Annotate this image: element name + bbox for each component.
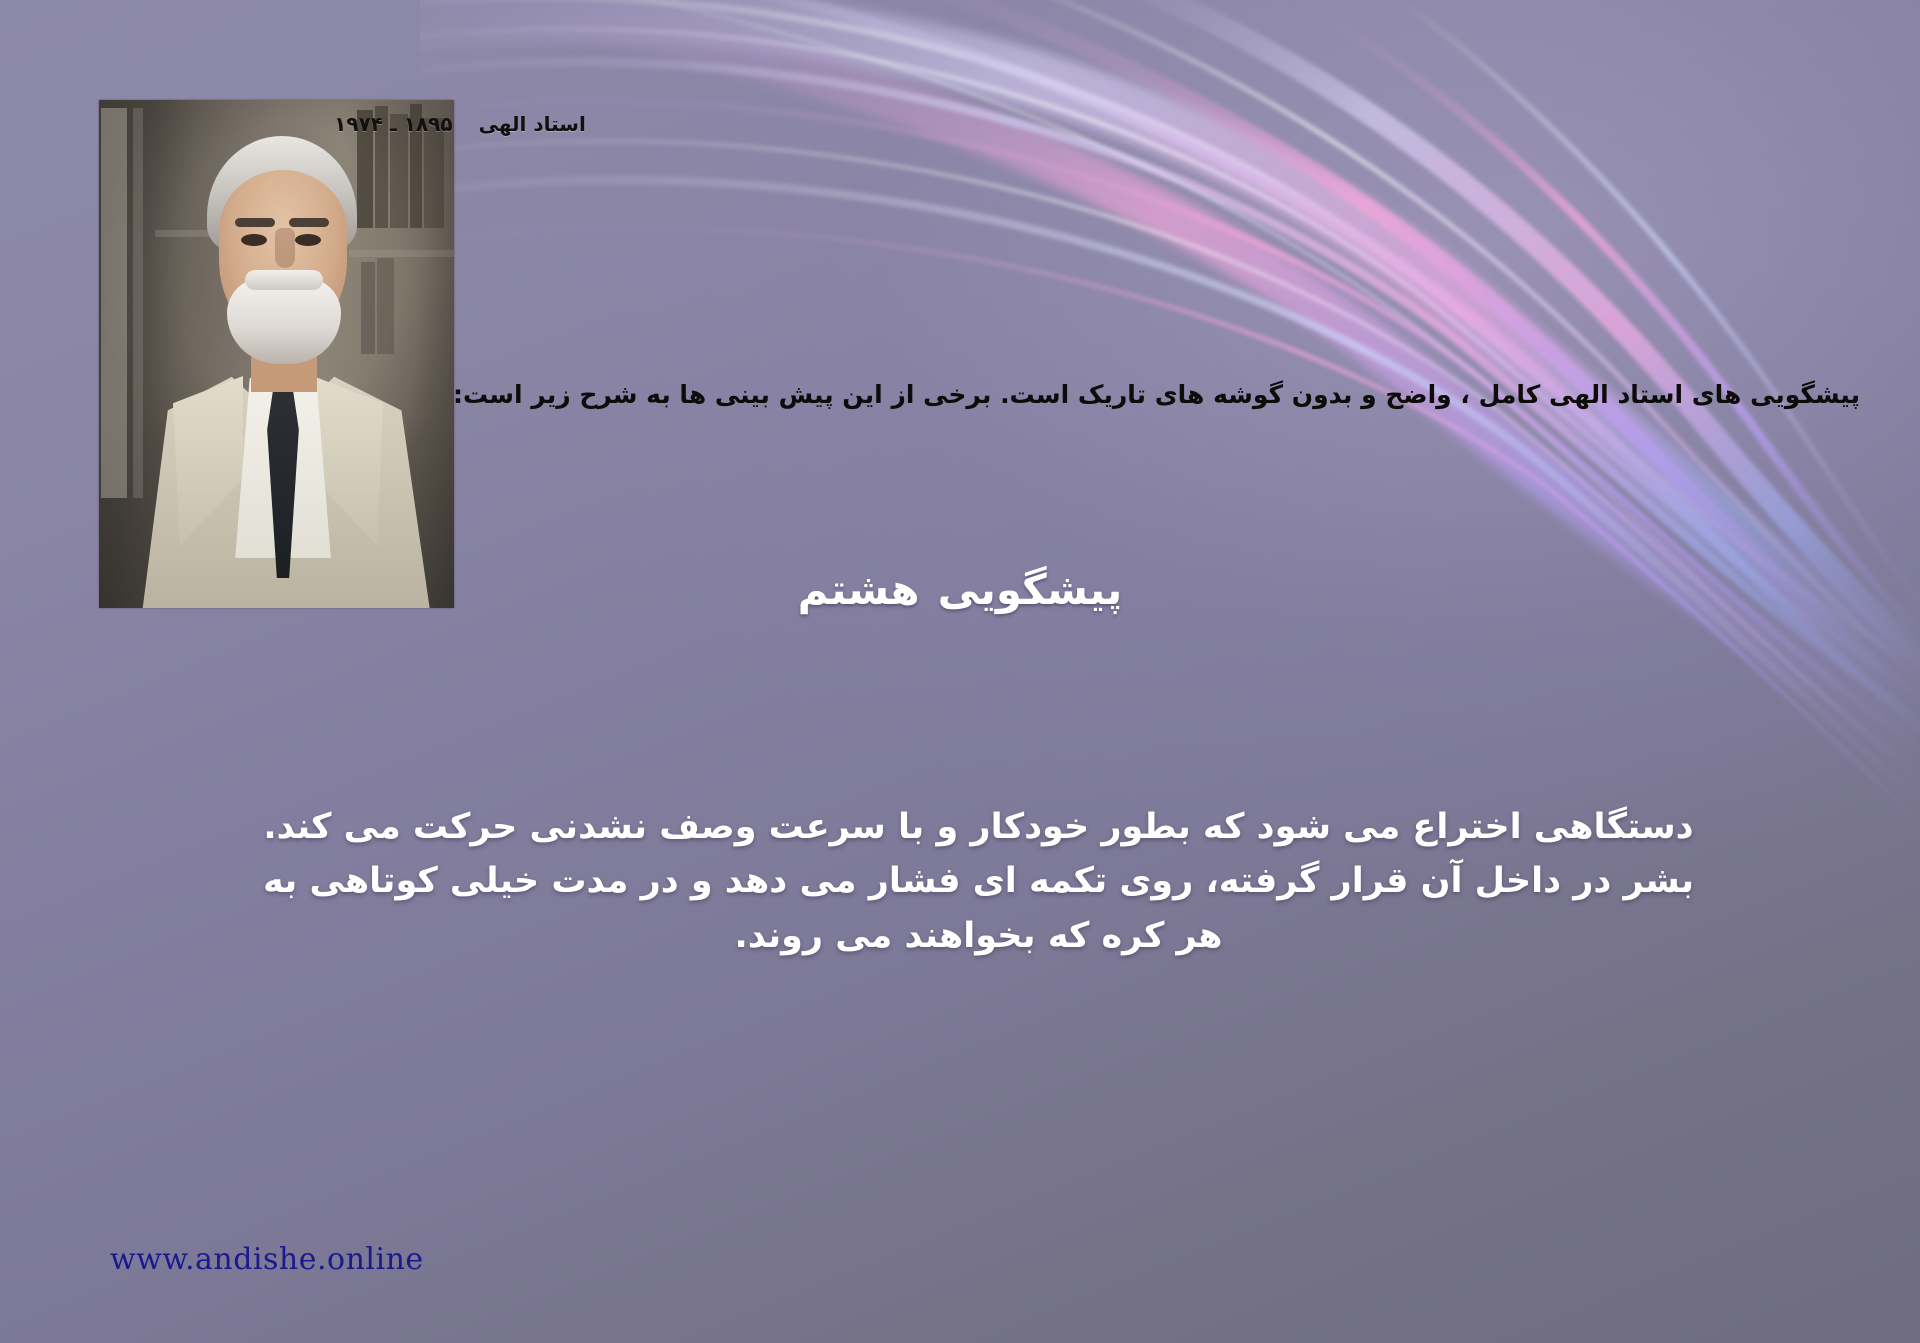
portrait-moustache [245, 270, 323, 290]
prophecy-line-1: دستگاهی اختراع می شود که بطور خودکار و ب… [155, 800, 1802, 854]
slide-root: استاد الهی۱۸۹۵ ـ ۱۹۷۴ پیشگویی های استاد … [0, 0, 1920, 1343]
section-title: پیشگوییهشتم [0, 565, 1920, 614]
section-title-word-2: هشتم [798, 565, 920, 614]
section-title-word-1: پیشگویی [938, 565, 1123, 614]
prophecy-line-3: هر کره که بخواهند می روند. [155, 909, 1802, 963]
portrait-beard [227, 278, 341, 364]
portrait-image [99, 100, 454, 608]
portrait-photo [99, 100, 454, 608]
portrait-caption-name: استاد الهی [479, 112, 586, 136]
prophecy-body: دستگاهی اختراع می شود که بطور خودکار و ب… [155, 800, 1802, 963]
portrait-caption: استاد الهی۱۸۹۵ ـ ۱۹۷۴ [180, 112, 740, 136]
website-url-link[interactable]: www.andishe.online [110, 1242, 424, 1277]
intro-paragraph: پیشگویی های استاد الهی کامل ، واضح و بدو… [480, 377, 1860, 413]
portrait-nose [275, 228, 295, 268]
portrait-caption-years: ۱۸۹۵ ـ ۱۹۷۴ [334, 112, 452, 136]
prophecy-line-2: بشر در داخل آن قرار گرفته، روی تکمه ای ف… [155, 854, 1802, 908]
